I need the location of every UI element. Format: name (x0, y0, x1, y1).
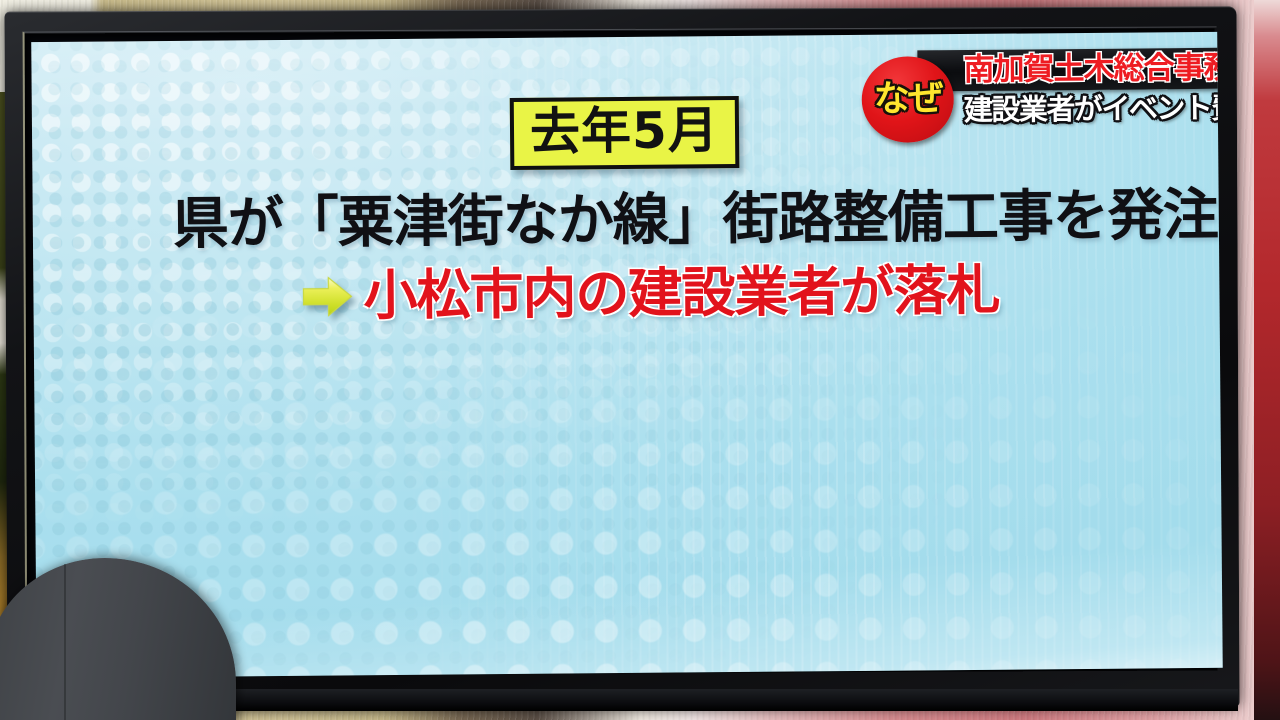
date-badge-label: 去年5月 (530, 104, 719, 158)
news-banner-line1-background: なぜ 南加賀土木総合事務所 (917, 47, 1222, 91)
arrow-right-icon (301, 274, 353, 318)
naze-stamp-badge: なぜ (861, 56, 954, 143)
news-banner: なぜ 南加賀土木総合事務所 建設業者がイベント費支払い (917, 47, 1222, 127)
screenshot-root: 去年5月 県が「粟津街なか線」街路整備工事を発注 (0, 0, 1280, 720)
studio-red-strip (1254, 0, 1280, 720)
date-badge: 去年5月 (510, 96, 739, 170)
headline-primary: 県が「粟津街なか線」街路整備工事を発注 (173, 186, 1183, 255)
headline-secondary-row: 小松市内の建設業者が落札 (301, 262, 999, 326)
headline-secondary-label: 小松市内の建設業者が落札 (363, 262, 999, 326)
news-banner-line1: 南加賀土木総合事務所 (963, 49, 1222, 88)
news-banner-line2: 建設業者がイベント費支払い (918, 90, 1223, 127)
naze-stamp-label: なぜ (874, 80, 942, 119)
tv-screen: 去年5月 県が「粟津街なか線」街路整備工事を発注 (31, 32, 1223, 678)
